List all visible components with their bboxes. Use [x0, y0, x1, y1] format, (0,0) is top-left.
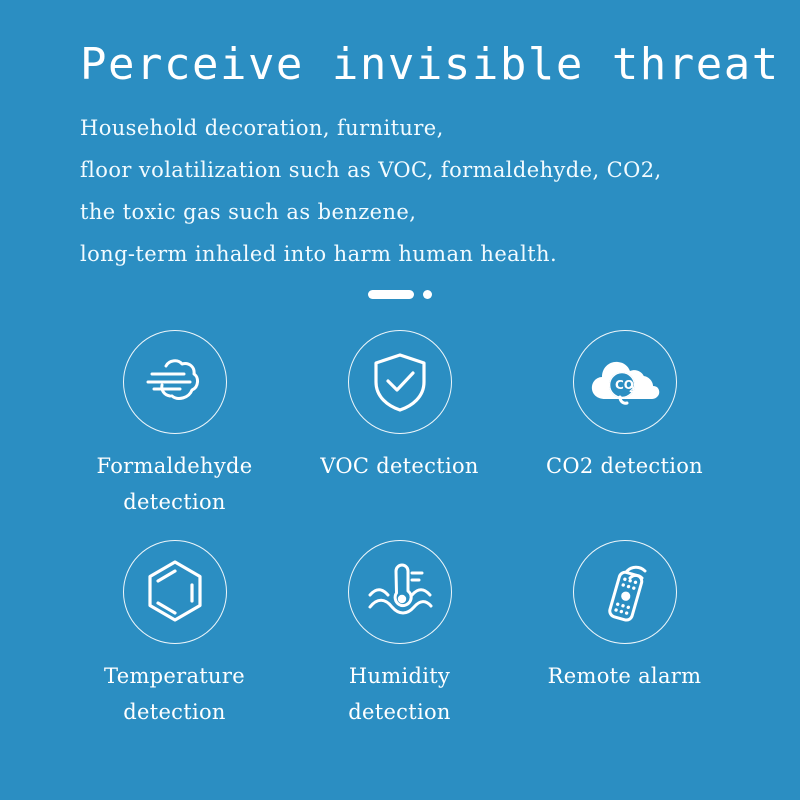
co2-icon-subscript: 2 — [629, 385, 635, 394]
feature-row-2: Temperature detection Humidity detection — [0, 540, 800, 730]
feature-formaldehyde-detection[interactable]: Formaldehyde detection — [62, 330, 287, 520]
benzene-ring-icon — [123, 540, 227, 644]
shield-check-icon — [348, 330, 452, 434]
feature-remote-alarm[interactable]: Remote alarm — [512, 540, 737, 730]
feature-temperature-detection[interactable]: Temperature detection — [62, 540, 287, 730]
hero-line: Household decoration, furniture, — [80, 107, 760, 149]
pagination-indicator-dot[interactable] — [423, 290, 432, 299]
feature-label: Remote alarm — [548, 658, 702, 694]
co2-cloud-icon: CO 2 — [573, 330, 677, 434]
feature-label: VOC detection — [320, 448, 478, 484]
page-title: Perceive invisible threat — [80, 40, 760, 91]
pagination-indicator-active[interactable] — [368, 290, 414, 299]
hero-line: long-term inhaled into harm human health… — [80, 233, 760, 275]
feature-co2-detection[interactable]: CO 2 CO2 detection — [512, 330, 737, 520]
hero-description: Household decoration, furniture, floor v… — [80, 107, 760, 275]
feature-label: Formaldehyde detection — [70, 448, 280, 520]
feature-grid: Formaldehyde detection VOC detection — [0, 330, 800, 730]
feature-row-1: Formaldehyde detection VOC detection — [0, 330, 800, 520]
feature-label: CO2 detection — [546, 448, 703, 484]
hero-section: Perceive invisible threat Household deco… — [80, 40, 760, 275]
hero-line: the toxic gas such as benzene, — [80, 191, 760, 233]
feature-label: Temperature detection — [70, 658, 280, 730]
feature-humidity-detection[interactable]: Humidity detection — [287, 540, 512, 730]
gas-cloud-icon — [123, 330, 227, 434]
carousel-pagination[interactable] — [0, 290, 800, 299]
feature-voc-detection[interactable]: VOC detection — [287, 330, 512, 520]
hero-line: floor volatilization such as VOC, formal… — [80, 149, 760, 191]
thermometer-water-icon — [348, 540, 452, 644]
remote-control-icon — [573, 540, 677, 644]
feature-label: Humidity detection — [295, 658, 505, 730]
promo-page: Perceive invisible threat Household deco… — [0, 0, 800, 800]
